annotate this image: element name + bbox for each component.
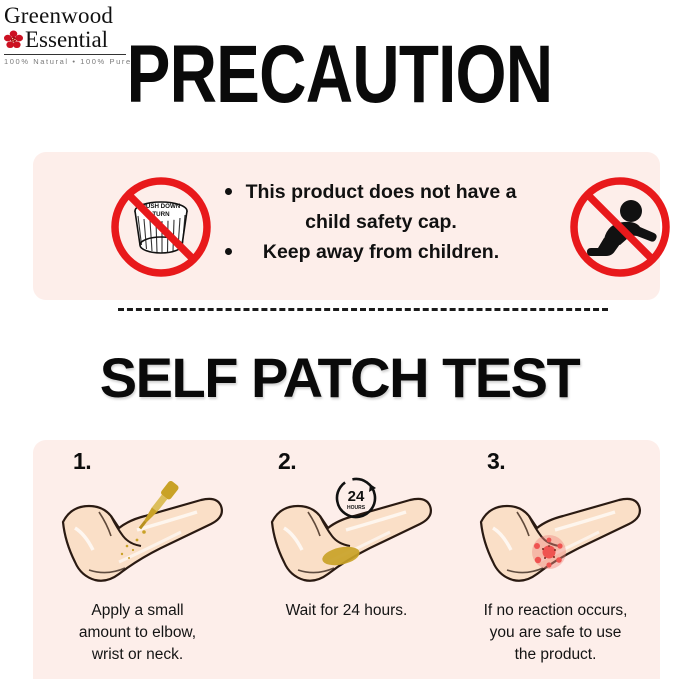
elbow-with-rash-icon	[459, 470, 652, 590]
elbow-with-24-hour-timer-icon: 24 HOURS	[250, 470, 443, 590]
precaution-bullet-2: Keep away from children.	[263, 241, 499, 263]
step-2-caption-line-1: Wait for 24 hours.	[248, 600, 445, 622]
no-children-icon	[568, 175, 672, 279]
bullet-dot-icon	[225, 248, 232, 255]
precaution-bullet-1-line-1: This product does not have a	[246, 181, 517, 203]
precaution-panel: PUSH DOWN TURN This product does not hav…	[33, 152, 660, 300]
self-patch-test-steps-panel: 1.	[33, 440, 660, 679]
step-3-caption: If no reaction occurs, you are safe to u…	[457, 600, 654, 666]
patch-test-step-2: 2.	[242, 440, 451, 679]
step-3-caption-line-3: the product.	[457, 644, 654, 666]
step-2-caption: Wait for 24 hours.	[248, 600, 445, 622]
page-title-self-patch-test: SELF PATCH TEST	[0, 348, 679, 408]
precaution-bullet-1-line-2: child safety cap.	[305, 211, 457, 233]
step-1-caption-line-3: wrist or neck.	[39, 644, 236, 666]
brand-name-line1: Greenwood	[2, 4, 128, 27]
precaution-self-patch-test-infographic: Greenwood Essential	[0, 0, 679, 679]
step-3-caption-line-2: you are safe to use	[457, 622, 654, 644]
elbow-with-dropper-icon	[41, 470, 234, 590]
step-1-caption-line-1: Apply a small	[39, 600, 236, 622]
no-child-safety-cap-icon: PUSH DOWN TURN	[109, 175, 213, 279]
patch-test-step-3: 3.	[451, 440, 660, 679]
step-2-badge-unit: HOURS	[347, 505, 366, 511]
step-1-caption-line-2: amount to elbow,	[39, 622, 236, 644]
precaution-bullet-list: This product does not have a child safet…	[211, 177, 551, 267]
step-3-caption-line-1: If no reaction occurs,	[457, 600, 654, 622]
step-2-badge-value: 24	[348, 488, 365, 505]
page-title-precaution: PRECAUTION	[68, 34, 611, 116]
patch-test-step-1: 1.	[33, 440, 242, 679]
bullet-dot-icon	[225, 188, 232, 195]
step-1-caption: Apply a small amount to elbow, wrist or …	[39, 600, 236, 666]
section-divider	[118, 308, 608, 311]
red-flower-icon	[4, 30, 23, 49]
